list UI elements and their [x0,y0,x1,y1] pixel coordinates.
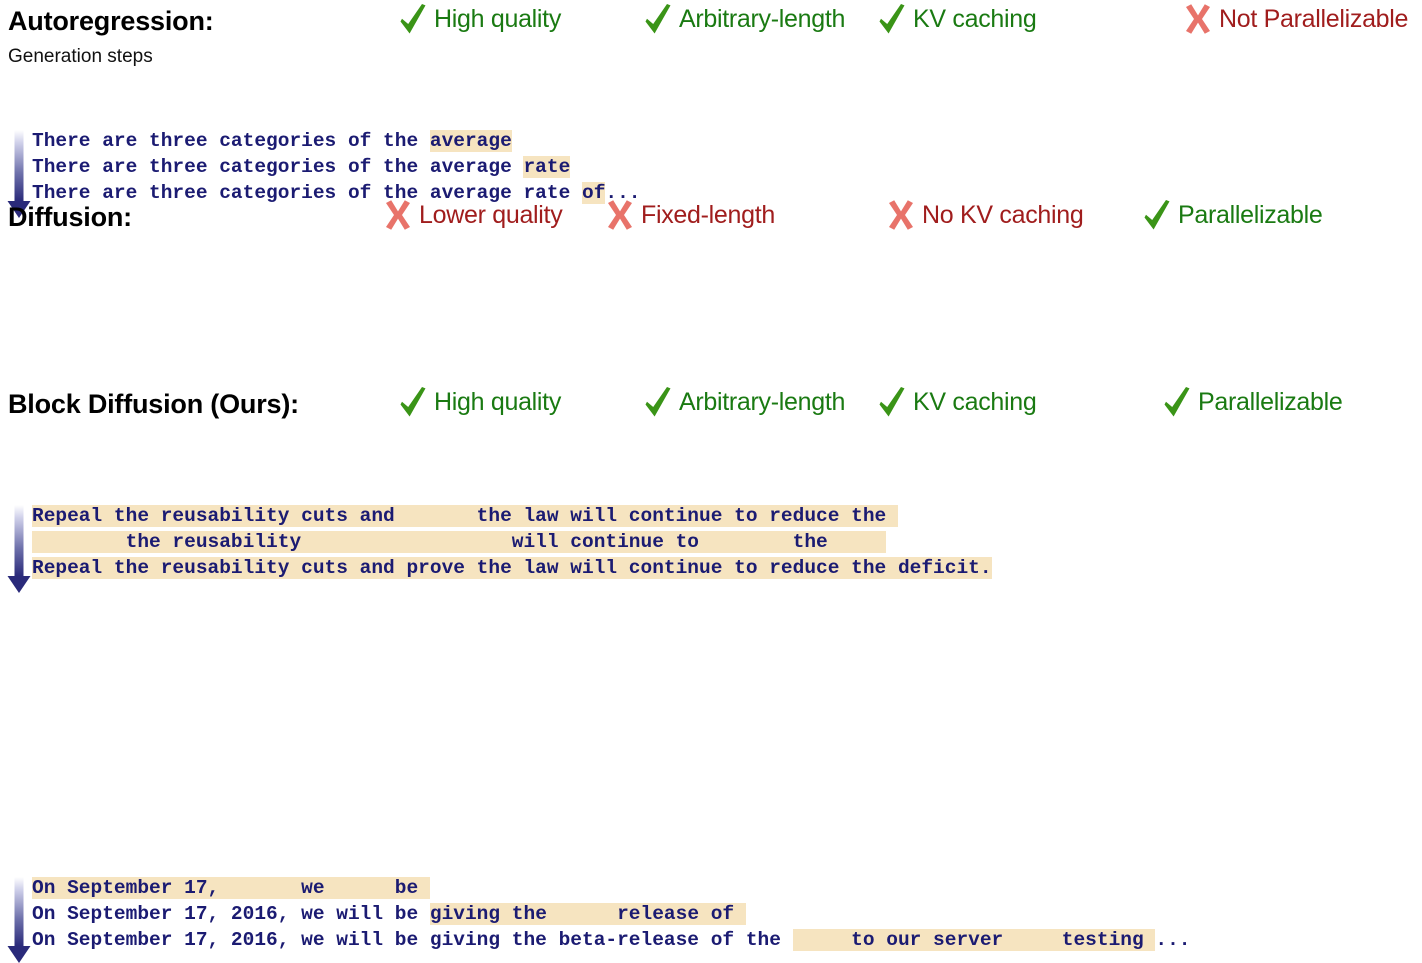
check-icon [643,385,673,419]
badge-autoregression-3: Not Parallelizable [1183,2,1408,36]
section-diffusion: Diffusion:Lower qualityFixed-lengthNo KV… [0,196,1422,242]
badge-label: High quality [434,7,561,32]
generation-line: On September 17, we be [32,875,1191,901]
highlighted-token-span: On September 17, we be [32,877,430,899]
badge-diffusion-0: Lower quality [383,198,562,232]
generation-line: There are three categories of the averag… [32,128,641,154]
badge-autoregression-1: Arbitrary-length [643,2,845,36]
text-span: There are three categories of the [32,130,430,152]
check-icon [1162,385,1192,419]
block-diffusion-lines: On September 17, we be On September 17, … [32,875,1191,953]
badge-label: Arbitrary-length [679,390,845,415]
badge-diffusion-1: Fixed-length [605,198,775,232]
diffusion-title: Diffusion: [8,202,132,233]
badge-label: No KV caching [922,203,1083,228]
generation-line: Repeal the reusability cuts and the law … [32,503,992,529]
highlighted-token-span: to our server testing [793,929,1156,951]
diffusion-header-row: Diffusion:Lower qualityFixed-lengthNo KV… [0,196,1422,242]
badge-autoregression-2: KV caching [877,2,1036,36]
highlighted-token-span: the reusability will continue to the [32,531,886,553]
badge-label: Parallelizable [1178,203,1323,228]
badge-label: Parallelizable [1198,390,1343,415]
autoregression-lines: There are three categories of the averag… [32,128,641,206]
autoregression-title: Autoregression: [8,6,214,37]
cross-icon [1183,2,1213,36]
check-icon [643,2,673,36]
generation-line: Repeal the reusability cuts and prove th… [32,555,992,581]
badge-label: KV caching [913,7,1036,32]
check-icon [1142,198,1172,232]
generation-line: On September 17, 2016, we will be giving… [32,927,1191,953]
highlighted-token-span: average [430,130,512,152]
text-span: There are three categories of the averag… [32,156,523,178]
text-span: On September 17, 2016, we will be [32,903,430,925]
text-span: ... [1155,929,1190,951]
autoregression-subtitle: Generation steps [8,46,153,68]
generation-steps-arrow-icon [6,505,32,593]
badge-label: Lower quality [419,203,562,228]
cross-icon [886,198,916,232]
badge-diffusion-2: No KV caching [886,198,1083,232]
highlighted-token-span: Repeal the reusability cuts and the law … [32,505,898,527]
autoregression-header-row: Autoregression:Generation stepsHigh qual… [0,0,1422,46]
generation-steps-arrow-icon [6,877,32,963]
badge-autoregression-0: High quality [398,2,561,36]
badge-block-diffusion-0: High quality [398,385,561,419]
check-icon [398,2,428,36]
cross-icon [383,198,413,232]
highlighted-token-span: giving the release of [430,903,746,925]
section-block-diffusion: Block Diffusion (Ours):High qualityArbit… [0,383,1422,429]
diffusion-lines: Repeal the reusability cuts and the law … [32,503,992,581]
section-autoregression: Autoregression:Generation stepsHigh qual… [0,0,1422,46]
generation-line: the reusability will continue to the [32,529,992,555]
check-icon [877,385,907,419]
badge-block-diffusion-2: KV caching [877,385,1036,419]
check-icon [398,385,428,419]
badge-label: High quality [434,390,561,415]
badge-block-diffusion-1: Arbitrary-length [643,385,845,419]
text-span: On September 17, 2016, we will be giving… [32,929,793,951]
badge-label: KV caching [913,390,1036,415]
generation-line: There are three categories of the averag… [32,154,641,180]
block-diffusion-title: Block Diffusion (Ours): [8,389,299,420]
check-icon [877,2,907,36]
generation-line: On September 17, 2016, we will be giving… [32,901,1191,927]
badge-label: Arbitrary-length [679,7,845,32]
badge-block-diffusion-3: Parallelizable [1162,385,1343,419]
cross-icon [605,198,635,232]
badge-label: Fixed-length [641,203,775,228]
block-diffusion-header-row: Block Diffusion (Ours):High qualityArbit… [0,383,1422,429]
badge-diffusion-3: Parallelizable [1142,198,1323,232]
highlighted-token-span: rate [523,156,570,178]
badge-label: Not Parallelizable [1219,7,1408,32]
highlighted-token-span: Repeal the reusability cuts and prove th… [32,557,992,579]
